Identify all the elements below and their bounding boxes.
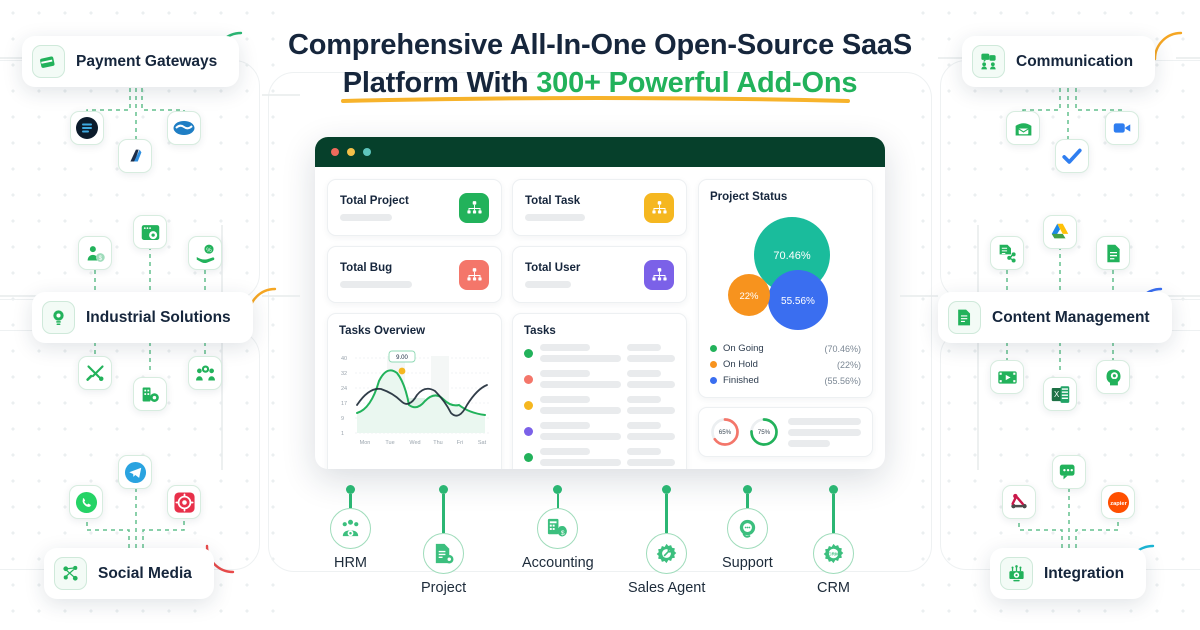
crm-gear-icon: CRM (813, 533, 854, 574)
team-gear-icon[interactable] (188, 356, 222, 390)
status-dot (524, 427, 533, 436)
cluster-label: Payment Gateways (76, 53, 217, 71)
ghost-frame-right2 (940, 330, 1200, 570)
stripe-icon[interactable] (70, 111, 104, 145)
list-item[interactable] (524, 370, 675, 388)
tasks-title: Tasks (524, 325, 675, 337)
project-status-title: Project Status (710, 191, 861, 203)
project-status-card: Project Status 70.46% 55.56% 22% On Goin… (698, 179, 873, 398)
bubble-label-on-going: 70.46% (773, 250, 811, 262)
svg-text:Fri: Fri (457, 440, 463, 446)
legend-value: (22%) (837, 360, 861, 370)
telegram-icon[interactable] (118, 455, 152, 489)
connector-dot (829, 485, 838, 494)
traffic-light-close[interactable] (331, 148, 339, 156)
stat-card-total-project[interactable]: Total Project (327, 179, 502, 236)
document-edit-icon (948, 301, 981, 334)
legend-label: On Hold (723, 359, 758, 370)
legend-item-finished: Finished (55.56%) (710, 375, 861, 386)
hierarchy-icon (459, 260, 489, 290)
gauge-75: 75% (749, 417, 779, 447)
cluster-label: Content Management (992, 309, 1150, 327)
stat-title: Total Project (340, 195, 409, 207)
module-accounting[interactable]: $ Accounting (522, 485, 594, 571)
connector-stem (349, 494, 352, 508)
chart-tooltip-value: 9.00 (396, 355, 408, 361)
svg-text:40: 40 (341, 356, 347, 362)
connector-stem (665, 494, 668, 533)
status-dot (524, 453, 533, 462)
module-label: HRM (334, 555, 367, 571)
telegram-check-icon[interactable] (1055, 139, 1089, 173)
connector-stem (832, 494, 835, 533)
connector-stem (442, 494, 445, 533)
cluster-label: Integration (1044, 565, 1124, 583)
user-dollar-icon[interactable]: $ (78, 236, 112, 270)
connector-dot (553, 485, 562, 494)
legend-value: (70.46%) (824, 344, 861, 354)
legend-label: Finished (723, 375, 759, 386)
module-hrm[interactable]: HRM (330, 485, 371, 571)
module-label: CRM (817, 580, 850, 596)
legend-value: (55.56%) (824, 376, 861, 386)
file-share-icon[interactable] (990, 236, 1024, 270)
svg-text:Wed: Wed (409, 440, 420, 446)
module-label: Sales Agent (628, 580, 705, 596)
gauge-65: 65% (710, 417, 740, 447)
stat-title: Total Bug (340, 262, 412, 274)
cluster-industrial-solutions[interactable]: Industrial Solutions (32, 292, 253, 343)
svg-text:CRM: CRM (828, 552, 839, 558)
legend-dot (710, 377, 717, 384)
zoom-icon[interactable] (1105, 111, 1139, 145)
stat-card-total-task[interactable]: Total Task (512, 179, 687, 236)
invoice-money-icon: $ (537, 508, 578, 549)
tasks-overview-title: Tasks Overview (339, 325, 490, 337)
svg-text:X: X (1053, 390, 1059, 399)
svg-text:32: 32 (341, 371, 347, 377)
svg-text:Sat: Sat (478, 440, 487, 446)
google-drive-icon[interactable] (1043, 215, 1077, 249)
gauge-value: 75% (758, 429, 771, 436)
cluster-content-management[interactable]: Content Management (938, 292, 1172, 343)
status-dot (524, 349, 533, 358)
hierarchy-icon (459, 193, 489, 223)
project-doc-icon (423, 533, 464, 574)
svg-text:%: % (206, 246, 212, 253)
chat-people-icon (972, 45, 1005, 78)
cluster-label: Communication (1016, 53, 1133, 71)
connector-dot (439, 485, 448, 494)
payfast-icon[interactable] (167, 111, 201, 145)
svg-text:24: 24 (341, 386, 347, 392)
list-item[interactable] (524, 422, 675, 440)
window-titlebar (315, 137, 885, 167)
headset-chat-icon (727, 508, 768, 549)
list-item[interactable] (524, 396, 675, 414)
tasks-overview-card: Tasks Overview 403224 1791 (327, 313, 502, 469)
hubspot-icon[interactable] (167, 485, 201, 519)
status-dot (524, 401, 533, 410)
list-item[interactable] (524, 344, 675, 362)
document-icon[interactable] (1096, 236, 1130, 270)
stat-title: Total User (525, 262, 580, 274)
svg-text:$: $ (561, 530, 565, 537)
mailbox-icon[interactable] (1006, 111, 1040, 145)
whatsapp-icon[interactable] (69, 485, 103, 519)
zapier-icon[interactable]: zapier (1101, 485, 1135, 519)
tools-icon[interactable] (78, 356, 112, 390)
paypal-icon[interactable] (118, 139, 152, 173)
legend-dot (710, 345, 717, 352)
connector-dot (743, 485, 752, 494)
cluster-communication[interactable]: Communication (962, 36, 1155, 87)
svg-text:Tue: Tue (385, 440, 394, 446)
tasks-overview-chart: 403224 1791 (339, 343, 491, 448)
bulb-gear-icon (42, 301, 75, 334)
cluster-payment-gateways[interactable]: Payment Gateways (22, 36, 239, 87)
svg-text:$: $ (98, 255, 102, 262)
cluster-label: Social Media (98, 565, 192, 583)
traffic-light-maximize[interactable] (363, 148, 371, 156)
legend-item-on-hold: On Hold (22%) (710, 359, 861, 370)
project-status-bubble-chart: 70.46% 55.56% 22% (710, 209, 862, 337)
list-item[interactable] (524, 448, 675, 466)
stat-card-total-user[interactable]: Total User (512, 246, 687, 303)
bubble-label-finished: 55.56% (781, 296, 815, 307)
svg-text:zapier: zapier (1110, 500, 1127, 506)
headline-underline (340, 94, 860, 106)
legend-label: On Going (723, 343, 764, 354)
dashboard-window: Total Project Total Task (315, 137, 885, 469)
tasks-card: Tasks (512, 313, 687, 469)
legend-item-on-going: On Going (70.46%) (710, 343, 861, 354)
cluster-integration[interactable]: Integration (990, 548, 1146, 599)
factory-gear-icon[interactable] (133, 377, 167, 411)
module-crm[interactable]: CRM CRM (813, 485, 854, 596)
tasks-list (524, 344, 675, 466)
integration-gear-icon (1000, 557, 1033, 590)
stat-title: Total Task (525, 195, 585, 207)
browser-gear-icon[interactable] (133, 215, 167, 249)
module-label: Project (421, 580, 466, 596)
cluster-label: Industrial Solutions (86, 309, 231, 327)
traffic-light-minimize[interactable] (347, 148, 355, 156)
svg-text:Mon: Mon (360, 440, 371, 446)
hierarchy-icon (644, 193, 674, 223)
poster-stage: Comprehensive All-In-One Open-Source Saa… (0, 0, 1200, 630)
hand-percent-icon[interactable]: % (188, 236, 222, 270)
gauges-card: 65% 75% (698, 407, 873, 457)
stat-card-grid: Total Project Total Task (327, 179, 687, 303)
module-support[interactable]: Support (722, 485, 773, 571)
video-play-icon[interactable] (990, 360, 1024, 394)
hierarchy-icon (644, 260, 674, 290)
cluster-social-media[interactable]: Social Media (44, 548, 214, 599)
svg-text:17: 17 (341, 401, 347, 407)
connector-stem (746, 494, 749, 508)
dashboard-body: Total Project Total Task (315, 167, 885, 469)
svg-text:Thu: Thu (433, 440, 442, 446)
bubble-label-on-hold: 22% (739, 291, 759, 302)
chat-icon[interactable] (1052, 455, 1086, 489)
idea-head-icon[interactable] (1096, 360, 1130, 394)
svg-text:9: 9 (341, 416, 344, 422)
connector-stem (557, 494, 560, 508)
gear-wrench-icon (646, 533, 687, 574)
gauge-skeleton-text (788, 418, 861, 447)
status-dot (524, 375, 533, 384)
payment-card-icon (32, 45, 65, 78)
svg-text:1: 1 (341, 431, 344, 437)
project-status-legend: On Going (70.46%) On Hold (22%) Finished… (710, 343, 861, 386)
excel-icon[interactable]: X (1043, 377, 1077, 411)
social-share-icon (54, 557, 87, 590)
gauge-value: 65% (719, 429, 732, 436)
legend-dot (710, 361, 717, 368)
module-sales-agent[interactable]: Sales Agent (628, 485, 705, 596)
team-gear-icon (330, 508, 371, 549)
module-label: Accounting (522, 555, 594, 571)
stat-card-total-bug[interactable]: Total Bug (327, 246, 502, 303)
module-project[interactable]: Project (421, 485, 466, 596)
connector-dot (662, 485, 671, 494)
module-label: Support (722, 555, 773, 571)
webhook-icon[interactable] (1002, 485, 1036, 519)
connector-dot (346, 485, 355, 494)
